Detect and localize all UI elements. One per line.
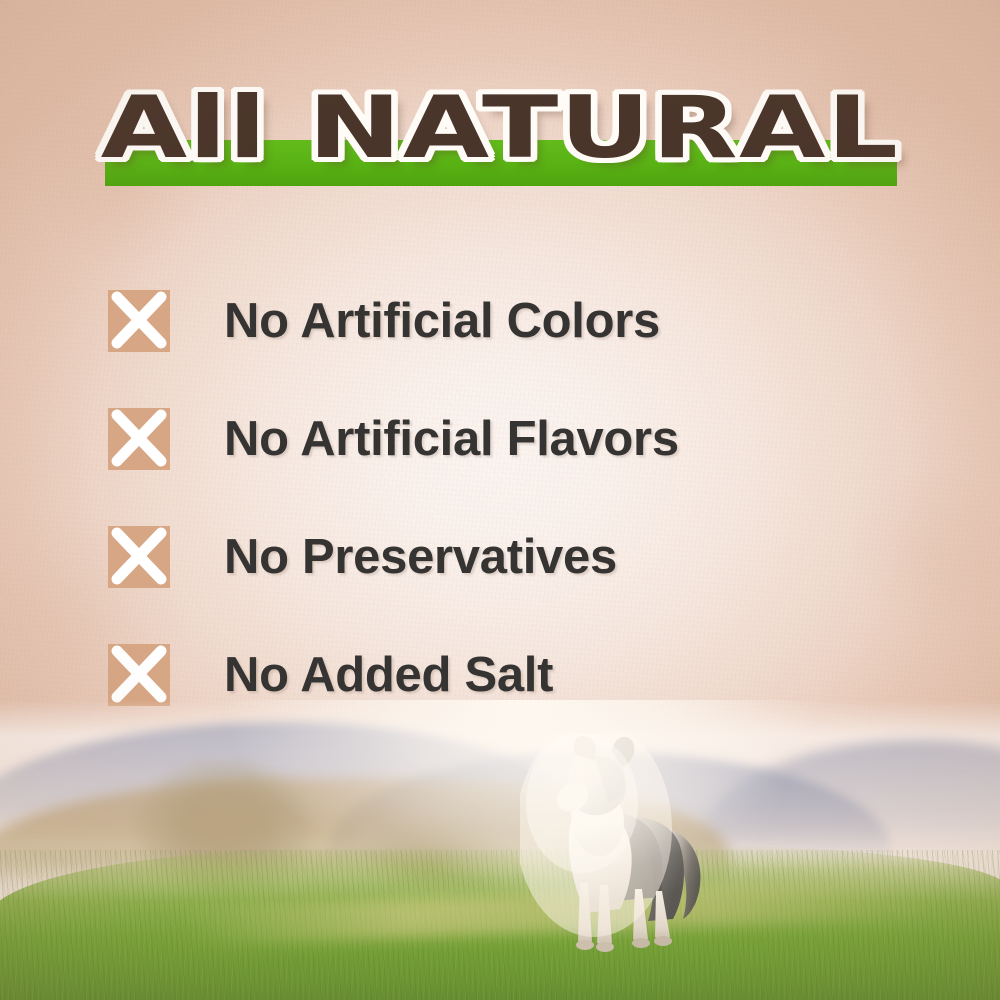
- x-mark-icon: [108, 290, 170, 352]
- x-mark-icon: [108, 408, 170, 470]
- list-item: No Artificial Colors: [108, 262, 928, 380]
- dog-in-field-photo: [0, 700, 1000, 1000]
- header: All NATURAL: [0, 68, 1000, 198]
- list-item: No Artificial Flavors: [108, 380, 928, 498]
- list-item-label: No Added Salt: [224, 647, 553, 703]
- dog-border-collie: [520, 733, 720, 968]
- list-item-label: No Preservatives: [224, 529, 617, 585]
- list-item-label: No Artificial Colors: [224, 293, 660, 349]
- x-mark-icon: [108, 526, 170, 588]
- list-item-label: No Artificial Flavors: [224, 411, 679, 467]
- x-mark-icon: [108, 644, 170, 706]
- list-item: No Preservatives: [108, 498, 928, 616]
- page-title: All NATURAL: [0, 68, 1000, 188]
- all-natural-benefits-poster: All NATURAL No Artificial Colors No Arti…: [0, 0, 1000, 1000]
- benefits-list: No Artificial Colors No Artificial Flavo…: [108, 262, 928, 734]
